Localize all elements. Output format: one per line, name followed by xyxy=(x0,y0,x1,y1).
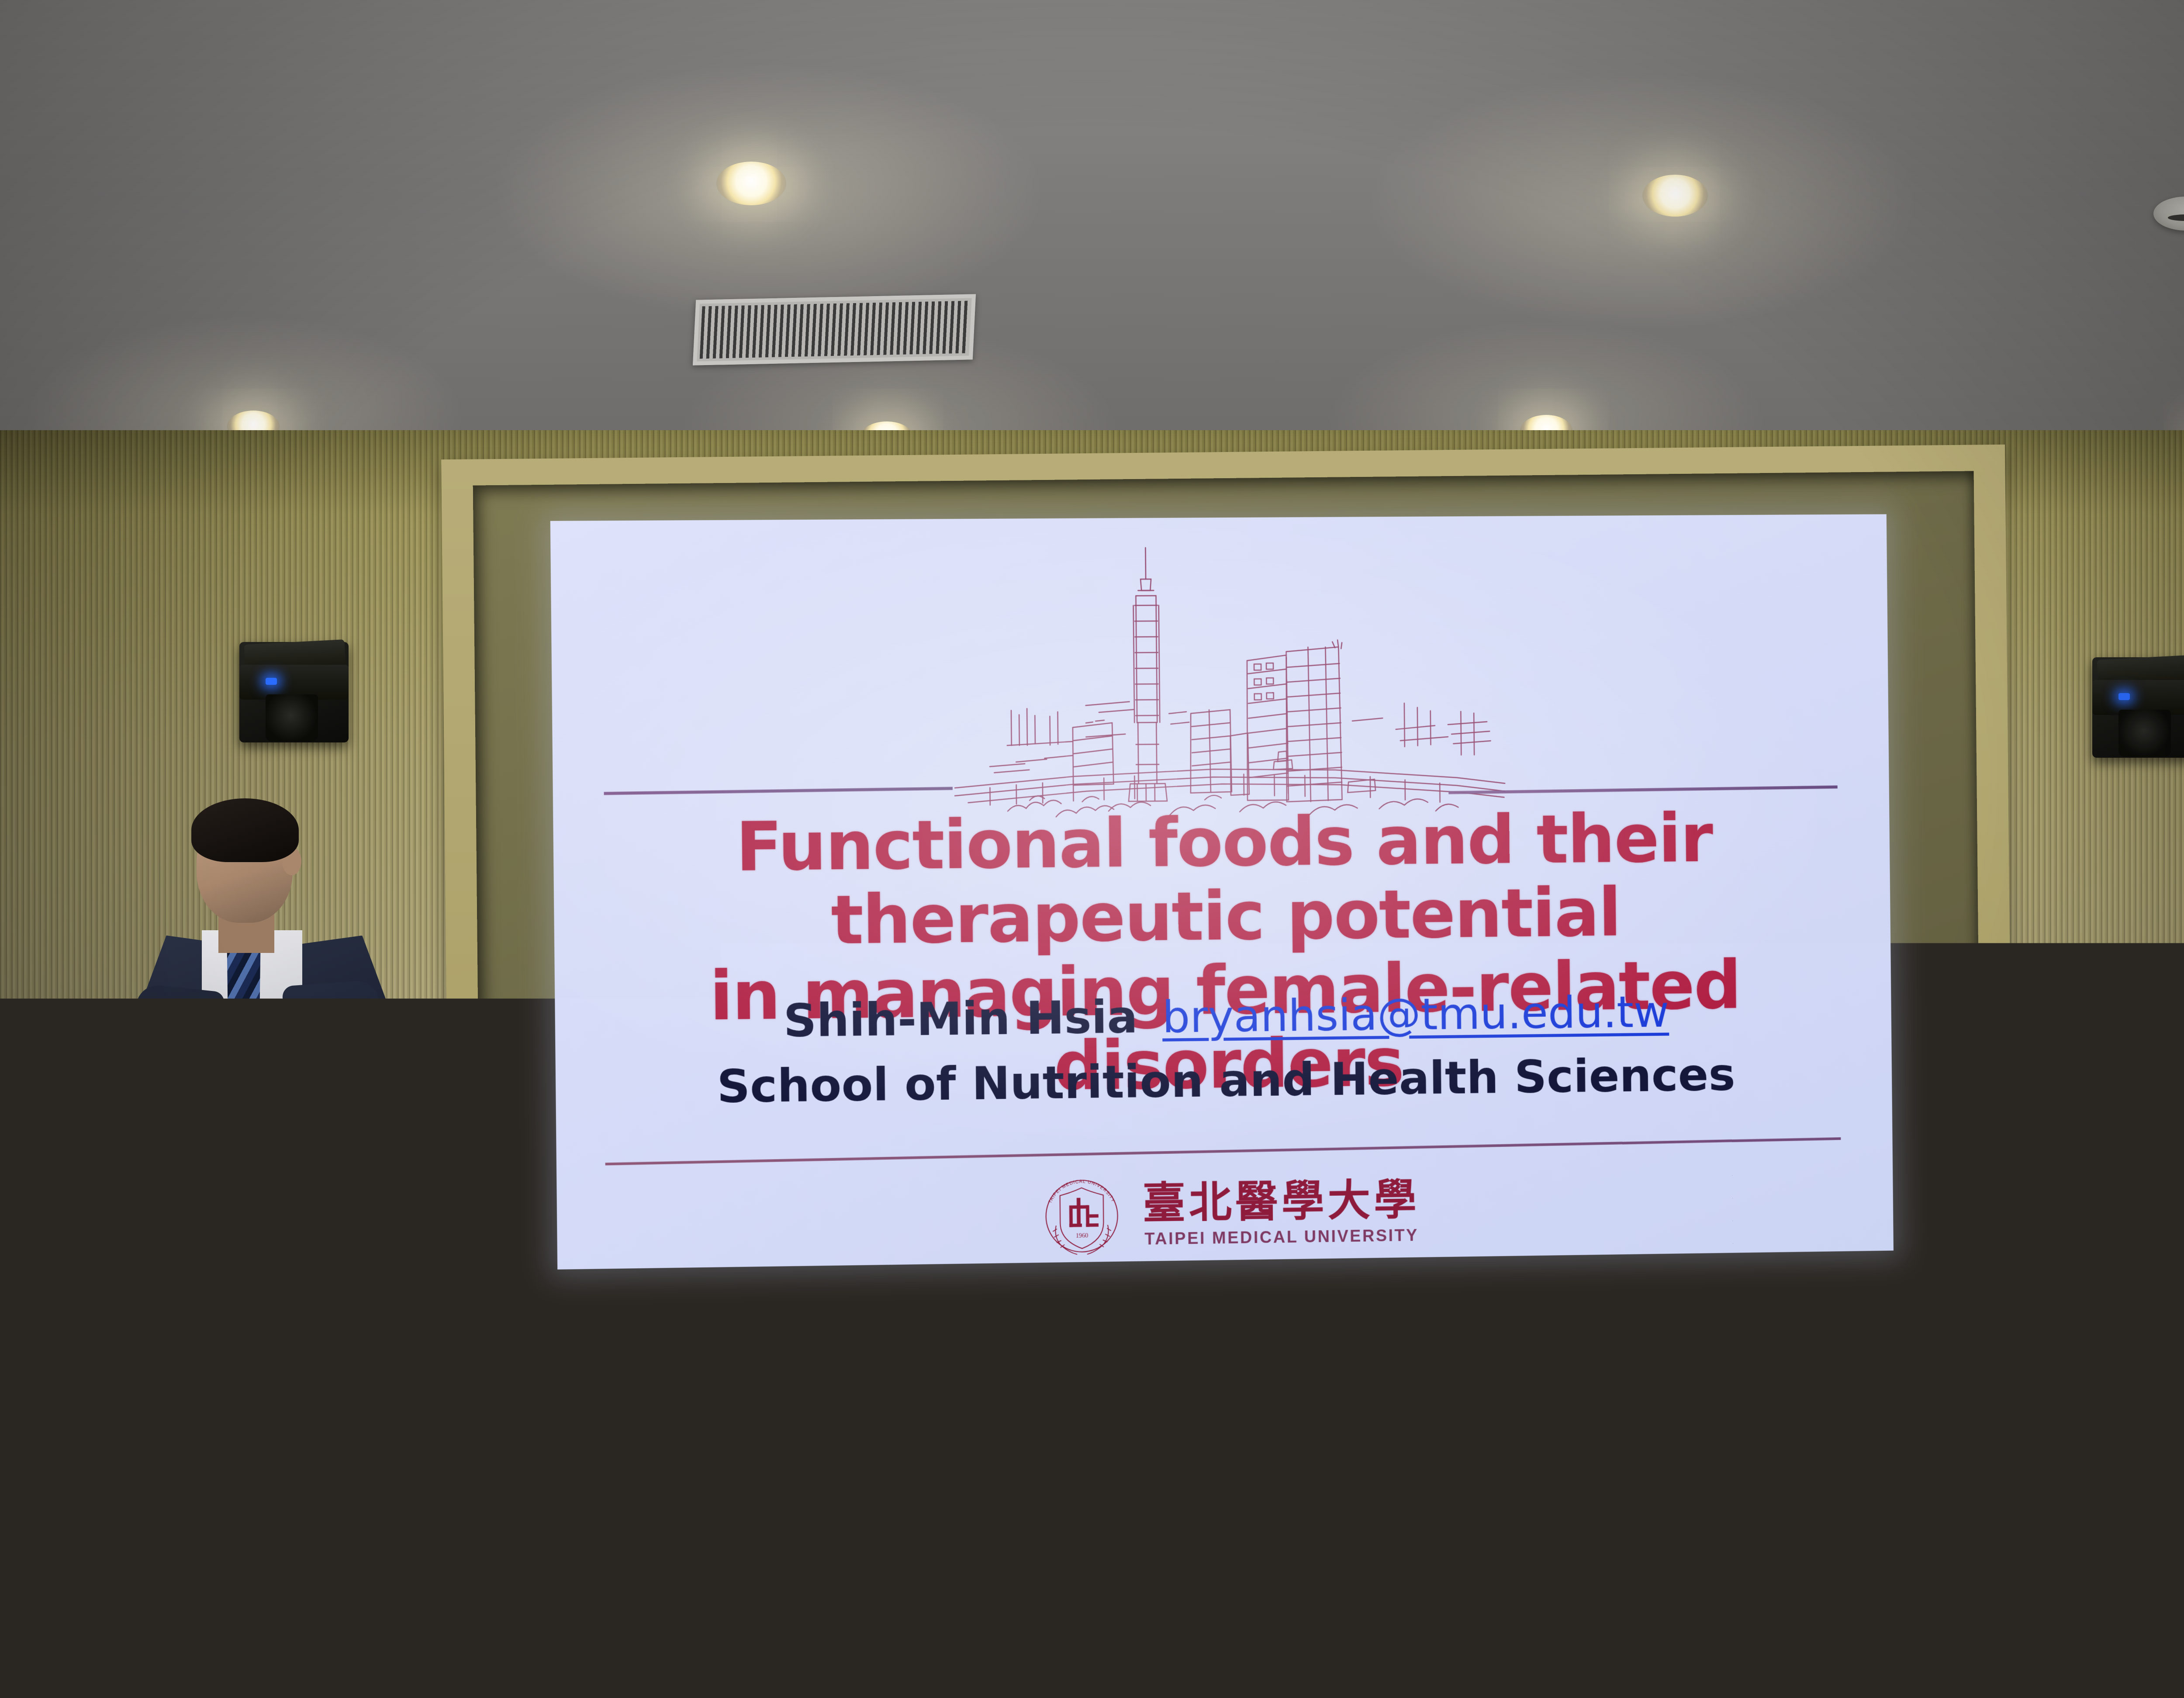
water-bottle-front-right: 忠明水 xyxy=(1655,1412,1738,1656)
table-front-right-wood xyxy=(1929,1607,2184,1698)
logo-wordmark: 臺北醫學大學 TAIPEI MEDICAL UNIVERSITY xyxy=(1142,1178,1420,1249)
slide-title-line-1: Functional foods and their therapeutic p… xyxy=(736,800,1713,960)
projection-screen: Functional foods and their therapeutic p… xyxy=(550,514,1894,1269)
logo-name-chinese: 臺北醫學大學 xyxy=(1142,1178,1420,1225)
slide-author-email[interactable]: bryanhsia@tmu.edu.tw xyxy=(1162,986,1669,1043)
tmu-crest-icon: 1960 TAIPEI MEDICAL UNIVERSITY TAIPEI ME… xyxy=(1040,1174,1123,1258)
bottle-label: 忠明水 xyxy=(1661,1481,1734,1586)
recessed-downlight xyxy=(716,162,786,205)
floor-tape-mark xyxy=(1133,1574,1140,1590)
slide-rule-left xyxy=(604,787,953,795)
presentation-slide: Functional foods and their therapeutic p… xyxy=(550,514,1894,1269)
logo-name-english: TAIPEI MEDICAL UNIVERSITY xyxy=(1144,1226,1419,1249)
floor-tape-mark xyxy=(1142,1494,1149,1499)
microphone-stand xyxy=(2015,1135,2027,1620)
air-vent-grille xyxy=(693,294,976,365)
status-led-icon xyxy=(266,678,277,685)
wall-speaker-left xyxy=(239,642,349,742)
water-bottle-front-left xyxy=(116,1384,181,1529)
crest-ring-text: TAIPEI MEDICAL UNIVERSITY xyxy=(1047,1179,1116,1204)
slide-author-name: Shih-Min Hsia xyxy=(783,990,1138,1047)
slide-rule-bottom xyxy=(605,1137,1841,1166)
university-logo: 1960 TAIPEI MEDICAL UNIVERSITY TAIPEI ME… xyxy=(556,1164,1894,1265)
lecture-hall-photo: Functional foods and their therapeutic p… xyxy=(0,0,2184,1698)
ceiling xyxy=(0,0,2184,441)
wall-speaker-right xyxy=(2092,657,2184,758)
recessed-downlight xyxy=(1642,175,1708,217)
bottle-label-text: 忠明水 xyxy=(1661,1508,1734,1587)
crest-year-text: 1960 xyxy=(1076,1232,1089,1239)
taipei-skyline-illustration xyxy=(939,537,1510,825)
status-led-icon xyxy=(2118,693,2130,700)
